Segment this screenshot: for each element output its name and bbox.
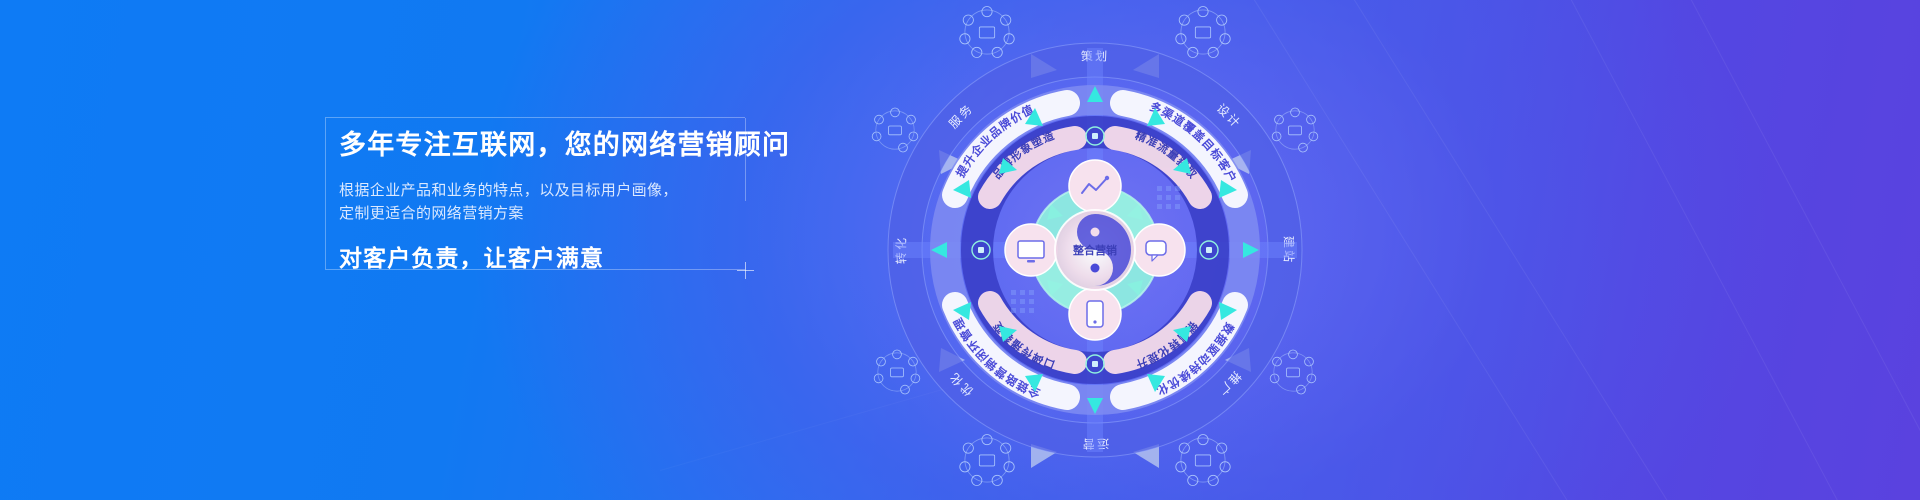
monitor-icon	[1005, 224, 1057, 276]
wheel-center-label: 整合营销	[1072, 243, 1117, 257]
subcopy-line-1: 根据企业产品和业务的特点，以及目标用户画像，	[339, 179, 759, 202]
page-title: 多年专注互联网，您的网络营销顾问	[339, 132, 759, 159]
marketing-wheel-graphic: 策划 设计 建站 推广 运营 优化 转化 服务	[835, 0, 1355, 500]
phone-icon	[1069, 288, 1121, 340]
chart-icon	[1069, 160, 1121, 212]
chat-icon	[1133, 224, 1185, 276]
subcopy-line-2: 定制更适合的网络营销方案	[339, 202, 759, 225]
page-subcopy: 根据企业产品和业务的特点，以及目标用户画像， 定制更适合的网络营销方案	[339, 179, 759, 226]
hero-banner: 多年专注互联网，您的网络营销顾问 根据企业产品和业务的特点，以及目标用户画像， …	[0, 0, 1920, 500]
text-panel: 多年专注互联网，您的网络营销顾问 根据企业产品和业务的特点，以及目标用户画像， …	[339, 132, 759, 270]
page-tagline: 对客户负责，让客户满意	[339, 247, 759, 270]
